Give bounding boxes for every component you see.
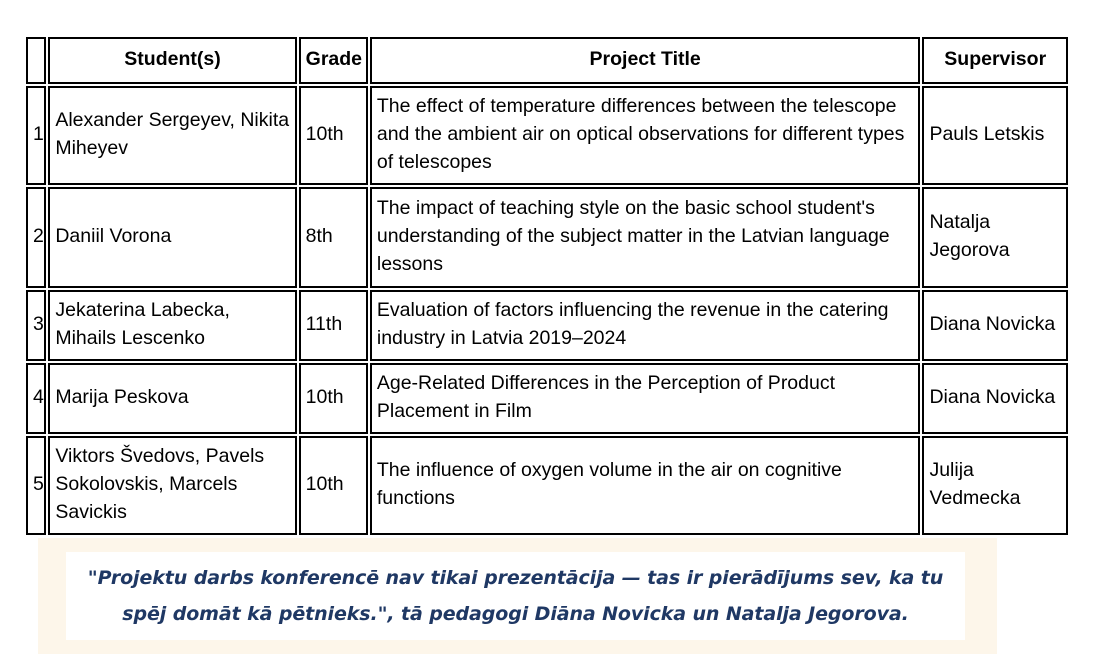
cell-project-title: The effect of temperature differences be…	[370, 86, 921, 185]
row-index: 2	[26, 187, 46, 288]
cell-students: Alexander Sergeyev, Nikita Miheyev	[48, 86, 296, 185]
quote-line-2: spēj domāt kā pētnieks.", tā pedagogi Di…	[122, 596, 908, 632]
column-header-title: Project Title	[370, 37, 921, 84]
cell-students: Marija Peskova	[48, 363, 296, 434]
column-header-index	[26, 37, 46, 84]
table-row: 3 Jekaterina Labecka, Mihails Lescenko 1…	[26, 290, 1068, 361]
table-row: 1 Alexander Sergeyev, Nikita Miheyev 10t…	[26, 86, 1068, 185]
cell-supervisor: Natalja Jegorova	[922, 187, 1068, 288]
column-header-students: Student(s)	[48, 37, 296, 84]
cell-grade: 11th	[299, 290, 368, 361]
page-root: Student(s) Grade Project Title Superviso…	[0, 0, 1099, 660]
quote-line-1: "Projektu darbs konferencē nav tikai pre…	[88, 560, 943, 596]
cell-project-title: The impact of teaching style on the basi…	[370, 187, 921, 288]
cell-students: Jekaterina Labecka, Mihails Lescenko	[48, 290, 296, 361]
row-index: 4	[26, 363, 46, 434]
cell-grade: 8th	[299, 187, 368, 288]
table-row: 2 Daniil Vorona 8th The impact of teachi…	[26, 187, 1068, 288]
cell-students: Daniil Vorona	[48, 187, 296, 288]
cell-project-title: The influence of oxygen volume in the ai…	[370, 436, 921, 535]
cell-supervisor: Diana Novicka	[922, 363, 1068, 434]
projects-table: Student(s) Grade Project Title Superviso…	[24, 35, 1070, 537]
cell-students: Viktors Švedovs, Pavels Sokolovskis, Mar…	[48, 436, 296, 535]
cell-grade: 10th	[299, 363, 368, 434]
cell-project-title: Evaluation of factors influencing the re…	[370, 290, 921, 361]
projects-table-container: Student(s) Grade Project Title Superviso…	[24, 35, 1070, 537]
row-index: 3	[26, 290, 46, 361]
column-header-grade: Grade	[299, 37, 368, 84]
quote-band: "Projektu darbs konferencē nav tikai pre…	[38, 538, 997, 654]
quote-box: "Projektu darbs konferencē nav tikai pre…	[66, 552, 965, 640]
table-row: 4 Marija Peskova 10th Age-Related Differ…	[26, 363, 1068, 434]
row-index: 5	[26, 436, 46, 535]
cell-project-title: Age-Related Differences in the Perceptio…	[370, 363, 921, 434]
cell-supervisor: Diana Novicka	[922, 290, 1068, 361]
row-index: 1	[26, 86, 46, 185]
cell-grade: 10th	[299, 436, 368, 535]
column-header-supervisor: Supervisor	[922, 37, 1068, 84]
cell-supervisor: Pauls Letskis	[922, 86, 1068, 185]
table-header-row: Student(s) Grade Project Title Superviso…	[26, 37, 1068, 84]
table-row: 5 Viktors Švedovs, Pavels Sokolovskis, M…	[26, 436, 1068, 535]
cell-supervisor: Julija Vedmecka	[922, 436, 1068, 535]
cell-grade: 10th	[299, 86, 368, 185]
